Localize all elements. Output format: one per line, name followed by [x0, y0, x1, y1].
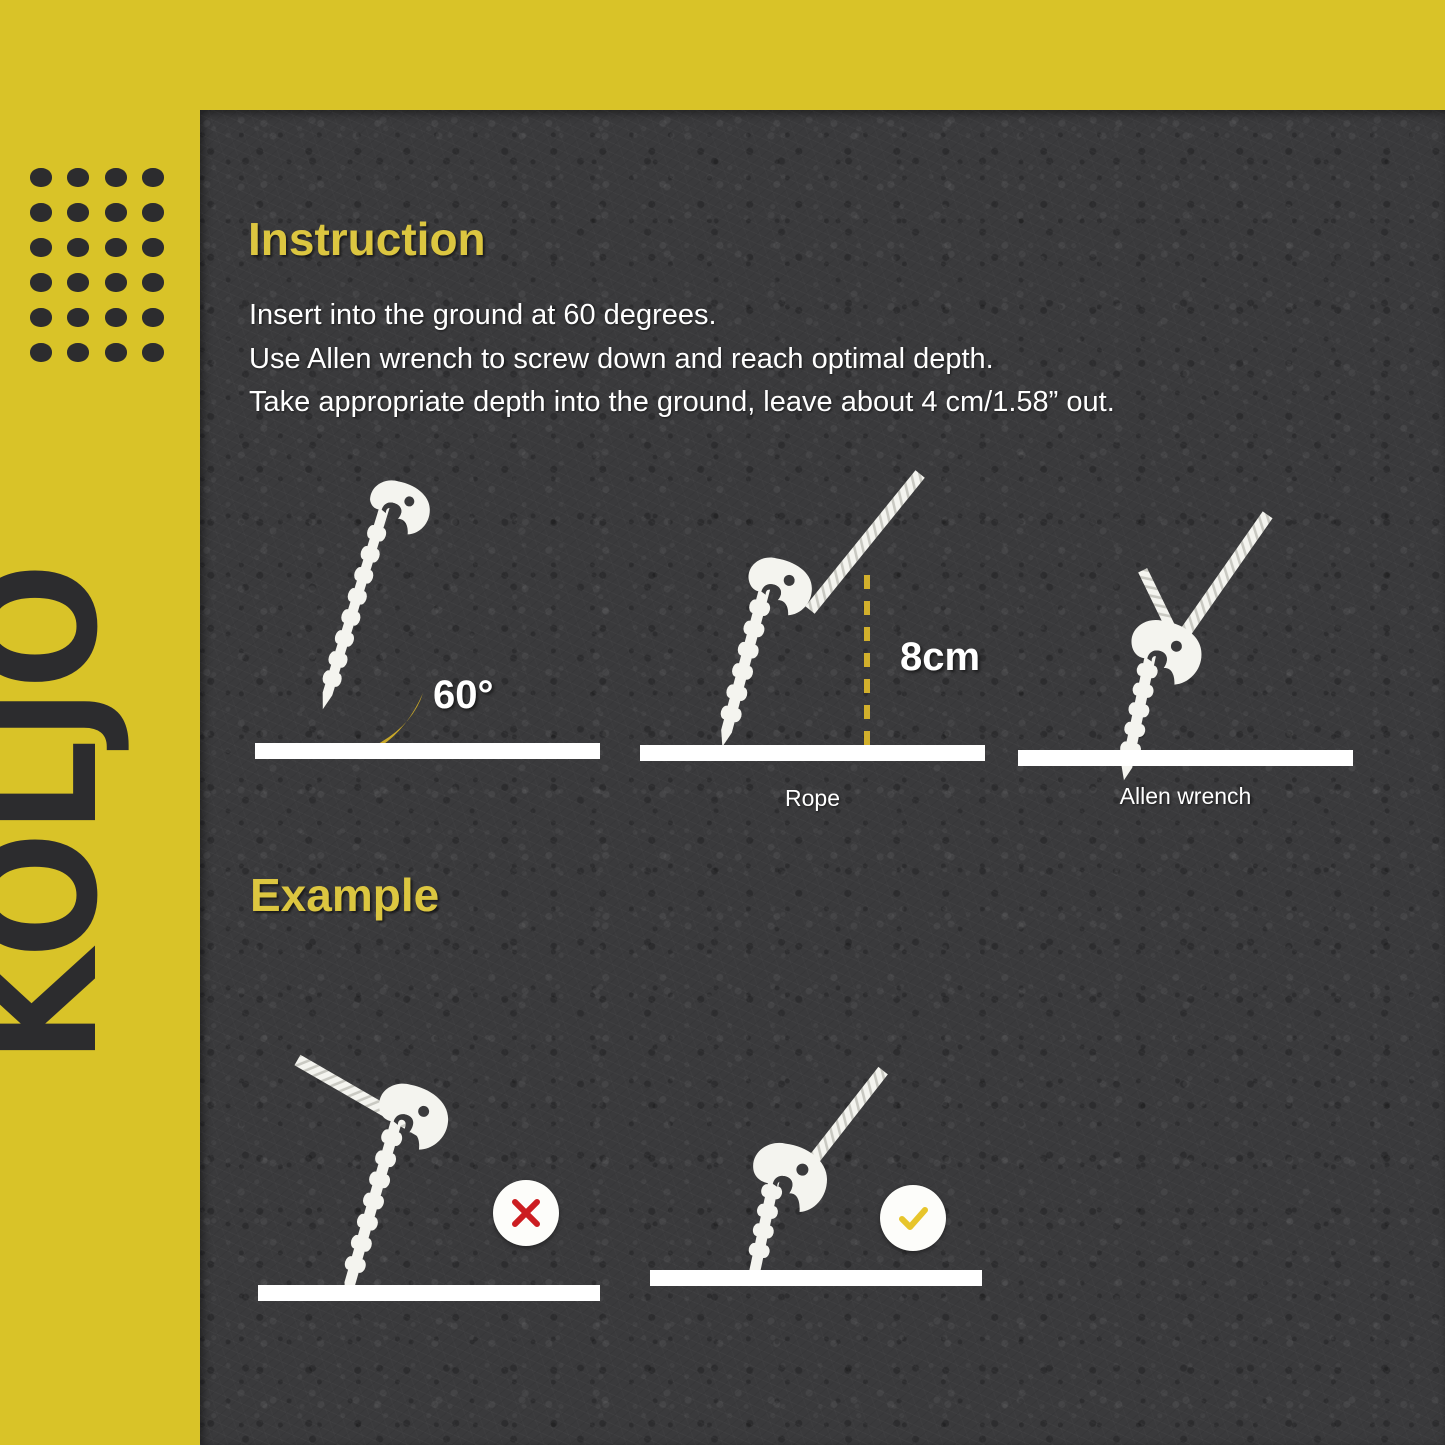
grid-dot: [30, 238, 52, 257]
grid-dot: [30, 343, 52, 362]
grid-dot: [105, 238, 127, 257]
grid-dot: [105, 203, 127, 222]
grid-dot: [142, 203, 164, 222]
wrench-diagram-svg: [1018, 505, 1353, 820]
grid-dot: [142, 168, 164, 187]
height-label: 8cm: [900, 635, 980, 680]
instruction-line-3: Take appropriate depth into the ground, …: [249, 383, 1309, 422]
check-icon: [893, 1198, 933, 1238]
correct-badge: [880, 1185, 946, 1251]
instruction-line-1: Insert into the ground at 60 degrees.: [249, 296, 1309, 335]
instruction-line-2: Use Allen wrench to screw down and reach…: [249, 340, 1309, 379]
rope-diagram-svg: [640, 445, 985, 820]
figure-wrench: Allen wrench: [1018, 505, 1353, 820]
grid-dot: [105, 308, 127, 327]
dot-grid-decoration: [22, 160, 172, 370]
figure-rope: 8cm Rope: [640, 445, 985, 820]
wrong-badge: [493, 1180, 559, 1246]
grid-dot: [30, 308, 52, 327]
correct-diagram-svg: [650, 1035, 982, 1305]
grid-dot: [142, 308, 164, 327]
figure-wrong-example: [258, 985, 600, 1305]
grid-dot: [30, 203, 52, 222]
grid-dot: [67, 343, 89, 362]
figure-wrench-caption: Allen wrench: [1018, 783, 1353, 810]
grid-dot: [105, 168, 127, 187]
instruction-heading: Instruction: [248, 212, 486, 266]
brand-wordmark: KOLJO: [0, 455, 108, 1065]
cross-icon: [506, 1193, 546, 1233]
grid-dot: [67, 203, 89, 222]
figure-correct-example: [650, 1035, 982, 1305]
grid-dot: [105, 273, 127, 292]
grid-dot: [67, 238, 89, 257]
grid-dot: [142, 273, 164, 292]
grid-dot: [30, 168, 52, 187]
grid-dot: [67, 308, 89, 327]
grid-dot: [67, 273, 89, 292]
instruction-text: Insert into the ground at 60 degrees. Us…: [249, 296, 1309, 427]
grid-dot: [105, 343, 127, 362]
angle-diagram-svg: [255, 455, 600, 775]
grid-dot: [30, 273, 52, 292]
angle-label: 60°: [433, 673, 494, 718]
figure-rope-caption: Rope: [640, 785, 985, 812]
example-heading: Example: [250, 868, 439, 922]
grid-dot: [67, 168, 89, 187]
grid-dot: [142, 343, 164, 362]
figure-angle: 60°: [255, 455, 600, 775]
grid-dot: [142, 238, 164, 257]
wrong-diagram-svg: [258, 985, 600, 1305]
